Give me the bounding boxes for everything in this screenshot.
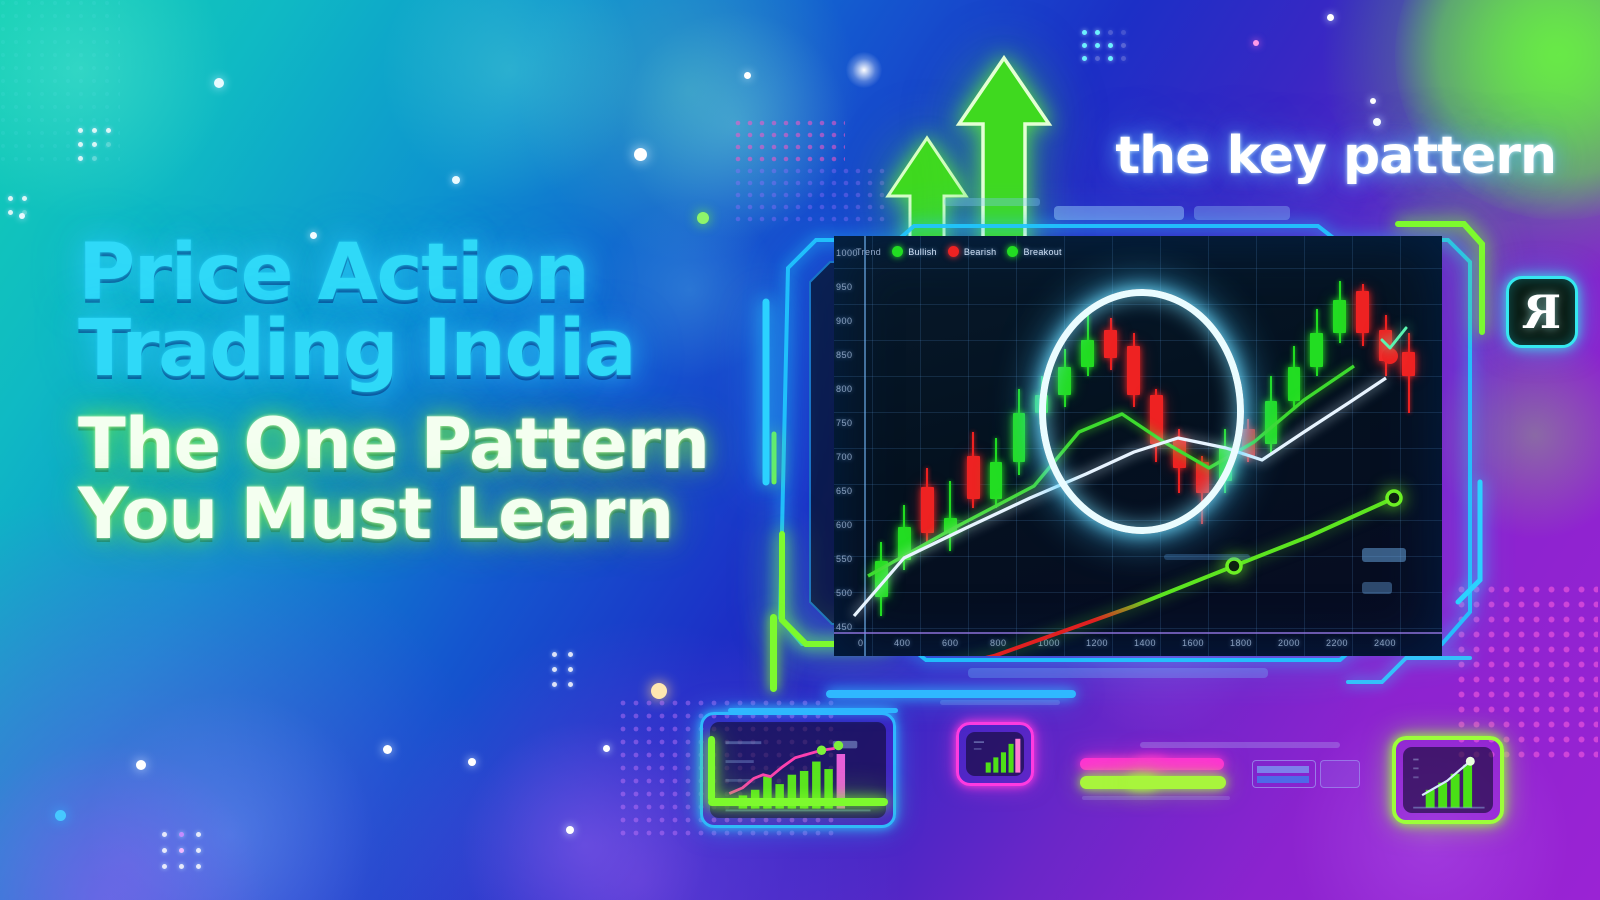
bar-chart-panel-underglow	[708, 798, 888, 806]
hud-block-2	[1362, 582, 1392, 594]
faint-strip-1	[1140, 742, 1340, 748]
hud-block-1	[1362, 548, 1406, 562]
hud-tile-left	[1252, 760, 1316, 788]
projection-line	[834, 498, 1394, 656]
bar-chart-panel[interactable]	[700, 712, 896, 828]
green-bar-2	[1128, 776, 1226, 789]
dot-grid-bottomleft	[162, 832, 202, 869]
hud-block-3	[1164, 554, 1250, 560]
poster-canvas: Price Action Trading India The One Patte…	[0, 0, 1600, 900]
headline-line-3: The One Pattern	[78, 409, 778, 479]
check-accent-icon	[1382, 328, 1406, 348]
headline-line-4: You Must Learn	[78, 479, 778, 549]
magenta-bar-2	[1136, 758, 1224, 770]
headline-line-2: Trading India	[78, 312, 778, 388]
key-pattern-badge: the key pattern	[1115, 126, 1556, 186]
left-neon-edge	[770, 614, 777, 692]
accent-bar-blue-left	[728, 708, 898, 713]
hud-tile-right	[1320, 760, 1360, 788]
faint-strip-3	[940, 700, 1060, 705]
support-trendline	[868, 366, 1354, 576]
price-marker	[1382, 348, 1398, 364]
growth-bar-panel[interactable]	[1392, 736, 1504, 824]
dot-grid-bottomcenter	[552, 652, 574, 687]
faint-strip-2	[1082, 796, 1230, 800]
monitor-base-glow	[826, 690, 1076, 698]
dot-grid-topright	[1082, 30, 1126, 61]
brand-logo-glyph: R	[1523, 289, 1561, 335]
trendline-layer	[834, 236, 1442, 656]
brand-logo-badge[interactable]: R	[1506, 276, 1578, 348]
mini-bar-panel-body	[966, 732, 1024, 776]
bar-chart-panel-leftglow	[708, 736, 715, 802]
projection-node-1	[1227, 559, 1241, 573]
trading-monitor: Trend Bullish Bearish Breakout 1000 950	[772, 196, 1484, 696]
mini-bar-panel[interactable]	[956, 722, 1034, 786]
growth-bar-panel-body	[1403, 747, 1493, 813]
chart-screen[interactable]: Trend Bullish Bearish Breakout 1000 950	[834, 236, 1442, 656]
headline-line-1: Price Action	[78, 236, 778, 312]
projection-node-2	[1387, 491, 1401, 505]
headline-block: Price Action Trading India The One Patte…	[78, 236, 778, 549]
